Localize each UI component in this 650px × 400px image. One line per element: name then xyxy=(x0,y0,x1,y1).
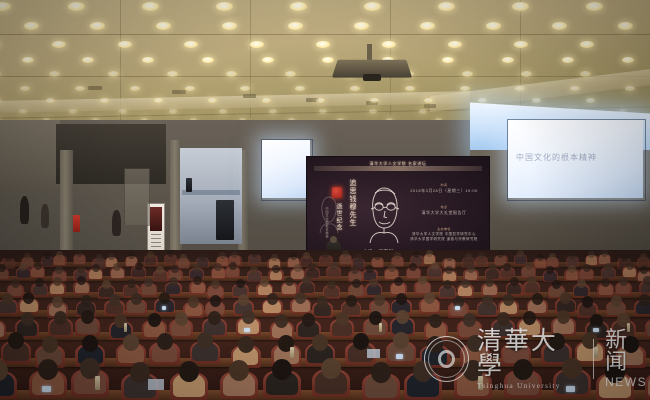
downlight-icon xyxy=(240,86,250,92)
audience-person-head xyxy=(621,254,628,261)
audience-person-head xyxy=(431,262,439,270)
phone-screen xyxy=(244,328,250,332)
audience-person-head xyxy=(396,310,409,324)
downlight-icon xyxy=(532,98,541,103)
backdrop-main-title: 追思钱穆先生 xyxy=(347,179,357,227)
audience-person-head xyxy=(569,252,576,259)
audience-person-head xyxy=(482,295,493,307)
water-bottle xyxy=(627,323,630,332)
audience-person-head xyxy=(489,264,497,272)
audience-person-head xyxy=(429,314,442,328)
audience-person-head xyxy=(81,310,94,324)
downlight-icon xyxy=(580,41,594,49)
audience-person-head xyxy=(537,254,544,261)
downlight-icon xyxy=(262,57,274,64)
audience-person-head xyxy=(175,312,188,326)
downlight-icon xyxy=(515,86,525,92)
audience-person-head xyxy=(605,362,625,383)
audience-person-head xyxy=(157,333,173,350)
audience-person-head xyxy=(643,276,650,285)
audience-person-head xyxy=(294,264,302,272)
audience-person-head xyxy=(42,336,58,353)
downlight-icon xyxy=(424,98,433,103)
audience-person-head xyxy=(52,296,63,308)
audience-person-head xyxy=(467,335,483,352)
downlight-icon xyxy=(562,57,574,64)
water-bottle xyxy=(478,376,483,390)
downlight-icon xyxy=(512,2,529,11)
downlight-icon xyxy=(75,86,85,92)
photo-frame: 中国文化的根本精神 清华大学人文学院 名家讲坛 xyxy=(0,0,650,400)
audience-person-head xyxy=(513,359,533,380)
backdrop-info-label: 主办单位 xyxy=(401,227,487,231)
audience-person-head xyxy=(2,293,13,305)
audience-person-head xyxy=(611,295,622,307)
downlight-icon xyxy=(295,86,305,92)
audience-person-head xyxy=(5,254,12,261)
audience-person-head xyxy=(193,264,201,272)
wall-section-left xyxy=(0,120,60,190)
audience-person-head xyxy=(82,335,98,352)
fire-extinguisher xyxy=(73,215,80,232)
downlight-icon xyxy=(20,86,30,92)
audience-person-head xyxy=(557,310,570,324)
air-vent-icon xyxy=(243,94,256,98)
audience-person-head xyxy=(238,294,249,306)
downlight-icon xyxy=(219,109,227,114)
right-screen-slide-title: 中国文化的根本精神 xyxy=(516,152,597,163)
backdrop-top-banner: 清华大学人文学院 名家讲坛 xyxy=(370,161,427,167)
audience-person-head xyxy=(131,293,142,305)
downlight-icon xyxy=(156,22,171,30)
audience-person-head xyxy=(130,362,150,383)
audience-person-head xyxy=(127,279,136,288)
backdrop-info-label: 时间 xyxy=(403,183,485,187)
downlight-icon xyxy=(46,98,55,103)
downlight-icon xyxy=(142,57,154,64)
downlight-icon xyxy=(514,41,528,49)
phone-screen xyxy=(162,306,167,310)
speaker-head xyxy=(330,236,337,243)
phone-screen xyxy=(566,386,575,392)
downlight-icon xyxy=(100,98,109,103)
audience-person-head xyxy=(355,254,362,261)
air-vent-icon xyxy=(88,86,102,90)
phone-screen xyxy=(455,306,460,310)
laptop xyxy=(367,349,380,358)
water-bottle xyxy=(594,347,598,358)
audience-person-head xyxy=(623,336,639,353)
downlight-icon xyxy=(502,57,514,64)
downlight-icon xyxy=(262,98,271,103)
backdrop-info-value: 清华大学大礼堂报告厅 xyxy=(403,210,485,216)
audience-person-head xyxy=(639,294,650,306)
audience-person-head xyxy=(427,336,443,353)
audience-person-head xyxy=(96,254,103,261)
backdrop-info-value: 清华大学人文学院 中国哲学研究中心 清华大学国学研究院 道德与宗教研究院 xyxy=(401,232,487,242)
downlight-icon xyxy=(586,2,603,11)
water-bottle xyxy=(379,323,382,332)
downlight-icon xyxy=(250,41,264,49)
downlight-icon xyxy=(222,22,237,30)
downlight-icon xyxy=(90,22,105,30)
audience-person-head xyxy=(312,334,328,351)
downlight-icon xyxy=(202,57,214,64)
audience-person-head xyxy=(560,292,571,304)
downlight-icon xyxy=(369,109,377,114)
downlight-icon xyxy=(169,109,177,114)
audience-person-head xyxy=(34,262,42,270)
wall-loudspeaker xyxy=(216,200,234,240)
downlight-icon xyxy=(82,57,94,64)
audience-person-head xyxy=(229,262,237,270)
backdrop-info-row: 时间 2018年3月28日（星期三）19:00 xyxy=(403,183,485,194)
downlight-icon xyxy=(130,86,140,92)
audience-person-head xyxy=(128,252,135,259)
audience-person-head xyxy=(346,295,357,307)
audience-person-head xyxy=(92,264,100,272)
downlight-icon xyxy=(625,86,635,92)
air-vent-icon xyxy=(172,90,186,94)
downlight-icon xyxy=(208,98,217,103)
audience-person-head xyxy=(532,293,543,305)
audience-person-head xyxy=(330,262,338,270)
wall-loudspeaker xyxy=(186,178,192,192)
water-bottle xyxy=(290,347,294,358)
downlight-icon xyxy=(448,41,462,49)
audience-person-head xyxy=(109,294,120,306)
audience-person-head xyxy=(180,254,187,261)
audience-person-head xyxy=(123,334,139,351)
audience-person-head xyxy=(371,362,391,383)
downlight-icon xyxy=(118,41,132,49)
audience-person-head xyxy=(508,334,524,351)
audience-person-head xyxy=(295,292,306,304)
audience-person-head xyxy=(523,311,536,325)
audience-person-head xyxy=(396,293,407,305)
downlight-icon xyxy=(486,22,501,30)
audience-person-head xyxy=(135,262,143,270)
audience-person-head xyxy=(463,313,476,327)
audience-person-head xyxy=(503,294,514,306)
audience-person-head xyxy=(208,311,221,325)
ceiling-projector-icon xyxy=(333,44,411,84)
audience-person-head xyxy=(577,279,586,288)
backdrop-info-label: 地点 xyxy=(403,205,485,209)
downlight-icon xyxy=(370,98,379,103)
portrait-outline-secondary-icon xyxy=(316,193,342,233)
downlight-icon xyxy=(364,2,381,11)
downlight-icon xyxy=(24,22,39,30)
audience-person-head xyxy=(44,252,51,259)
downlight-icon xyxy=(438,2,455,11)
poster-image xyxy=(150,207,162,231)
audience-person-head xyxy=(238,336,254,353)
downlight-icon xyxy=(478,98,487,103)
downlight-icon xyxy=(185,86,195,92)
water-bottle xyxy=(124,323,127,332)
downlight-icon xyxy=(586,98,595,103)
audience-person-head xyxy=(148,313,161,327)
audience-person-head xyxy=(38,359,58,380)
audience-person-head xyxy=(303,252,310,259)
downlight-icon xyxy=(142,2,159,11)
audience-person-head xyxy=(317,296,328,308)
downlight-icon xyxy=(288,22,303,30)
downlight-icon xyxy=(354,22,369,30)
phone-screen xyxy=(396,354,403,359)
audience-person-head xyxy=(626,262,634,270)
audience-person-head xyxy=(393,332,409,349)
audience-person-head xyxy=(424,292,435,304)
laptop xyxy=(148,379,164,390)
audience-person-head xyxy=(461,279,470,288)
downlight-icon xyxy=(350,86,360,92)
audience-person-head xyxy=(197,332,213,349)
standing-attendee xyxy=(112,210,121,236)
audience-person-head xyxy=(336,312,349,326)
downlight-icon xyxy=(119,109,127,114)
audience-person-head xyxy=(302,313,315,327)
audience-person-head xyxy=(23,292,34,304)
downlight-icon xyxy=(68,2,85,11)
audience-person-head xyxy=(478,252,485,259)
audience-person-head xyxy=(446,254,453,261)
downlight-icon xyxy=(570,86,580,92)
audience-person-head xyxy=(219,252,226,259)
audience-person-head xyxy=(229,360,249,381)
downlight-icon xyxy=(184,41,198,49)
downlight-icon xyxy=(154,98,163,103)
backdrop-info-row: 主办单位 清华大学人文学院 中国哲学研究中心 清华大学国学研究院 道德与宗教研究… xyxy=(401,227,487,242)
audience-person-head xyxy=(11,279,20,288)
audience-person-head xyxy=(8,332,24,349)
audience-area xyxy=(0,250,650,400)
audience-person-head xyxy=(21,312,34,326)
downlight-icon xyxy=(319,109,327,114)
audience-person-head xyxy=(525,262,533,270)
audience-person-head xyxy=(81,295,92,307)
audience-person-head xyxy=(267,293,278,305)
audience-person-head xyxy=(582,296,593,308)
audience-person-head xyxy=(275,314,288,328)
audience-person-head xyxy=(374,294,385,306)
downlight-icon xyxy=(316,98,325,103)
downlight-icon xyxy=(316,41,330,49)
backdrop-info-row: 地点 清华大学大礼堂报告厅 xyxy=(403,205,485,216)
downlight-icon xyxy=(460,86,470,92)
water-bottle xyxy=(95,376,100,390)
audience-person-head xyxy=(394,252,401,259)
downlight-icon xyxy=(269,109,277,114)
audience-person-head xyxy=(210,295,221,307)
air-vent-icon xyxy=(424,104,436,108)
downlight-icon xyxy=(22,57,34,64)
downlight-icon xyxy=(622,57,634,64)
downlight-icon xyxy=(419,109,427,114)
downlight-icon xyxy=(52,41,66,49)
audience-person-head xyxy=(583,264,591,272)
audience-person-head xyxy=(271,254,278,261)
audience-person-head xyxy=(353,333,369,350)
downlight-icon xyxy=(0,2,11,11)
backdrop-info-value: 2018年3月28日（星期三）19:00 xyxy=(403,188,485,194)
standing-attendee xyxy=(20,196,29,224)
phone-screen xyxy=(593,328,599,332)
audience-person-head xyxy=(549,333,565,350)
audience-person-head xyxy=(54,311,67,325)
standing-attendee xyxy=(41,204,49,228)
downlight-icon xyxy=(552,22,567,30)
downlight-icon xyxy=(69,109,77,114)
audience-person-head xyxy=(497,312,510,326)
downlight-icon xyxy=(618,22,633,30)
audience-person-head xyxy=(388,264,396,272)
audience-person-head xyxy=(590,314,603,328)
downlight-icon xyxy=(420,22,435,30)
audience-person-head xyxy=(272,359,292,380)
audience-person-head xyxy=(236,279,245,288)
audience-person-head xyxy=(242,310,255,324)
audience-person-head xyxy=(188,296,199,308)
downlight-icon xyxy=(290,2,307,11)
downlight-icon xyxy=(405,86,415,92)
audience-person-head xyxy=(159,292,170,304)
side-exit-door xyxy=(124,168,150,226)
hall-pillar xyxy=(60,150,73,260)
phone-screen xyxy=(42,386,51,392)
downlight-icon xyxy=(442,57,454,64)
audience-person-head xyxy=(352,279,361,288)
downlight-icon xyxy=(19,109,27,114)
downlight-icon xyxy=(216,2,233,11)
